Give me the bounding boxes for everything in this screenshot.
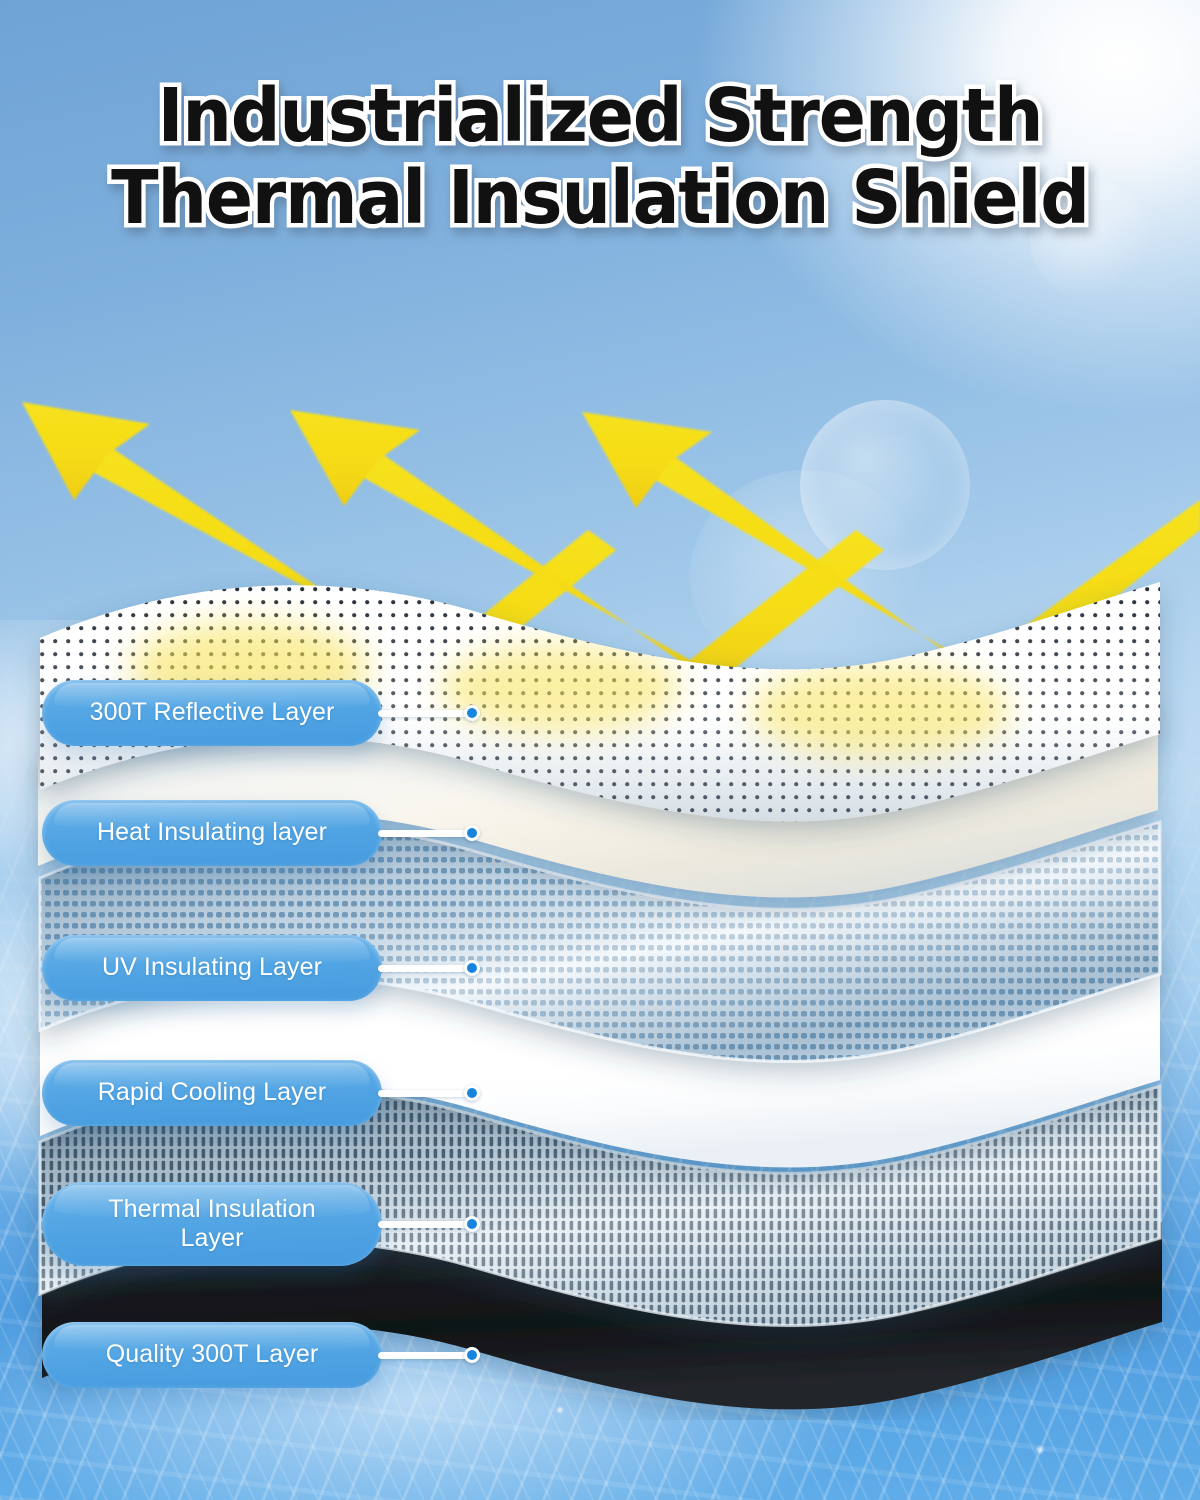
leader-dot-icon — [464, 1347, 480, 1363]
callout-label-line-1: Thermal Insulation — [108, 1195, 315, 1223]
leader-line — [378, 1352, 474, 1359]
callout-pill[interactable]: Rapid Cooling Layer — [42, 1060, 382, 1126]
leader-line — [378, 1090, 474, 1097]
callout-label: Rapid Cooling Layer — [98, 1078, 326, 1108]
leader-dot-icon — [464, 825, 480, 841]
leader-dot-icon — [464, 1085, 480, 1101]
callout-heat-insulating[interactable]: Heat Insulating layer — [42, 800, 474, 866]
callout-rapid-cooling[interactable]: Rapid Cooling Layer — [42, 1060, 474, 1126]
callout-label: Heat Insulating layer — [97, 818, 327, 848]
callout-pill[interactable]: UV Insulating Layer — [42, 935, 382, 1001]
leader-line — [378, 830, 474, 837]
leader-line — [378, 1221, 474, 1228]
callout-uv-insulating[interactable]: UV Insulating Layer — [42, 935, 474, 1001]
callout-thermal-insulation[interactable]: Thermal Insulation Layer — [42, 1182, 474, 1266]
leader-dot-icon — [464, 705, 480, 721]
leader-dot-icon — [464, 960, 480, 976]
callout-pill[interactable]: Heat Insulating layer — [42, 800, 382, 866]
callout-pill[interactable]: 300T Reflective Layer — [42, 680, 382, 746]
product-infographic: Industrialized Strength Thermal Insulati… — [0, 0, 1200, 1500]
title-line-1: Industrialized Strength — [36, 78, 1164, 154]
callout-pill[interactable]: Thermal Insulation Layer — [42, 1182, 382, 1266]
callout-quality-300t[interactable]: Quality 300T Layer — [42, 1322, 474, 1388]
callout-label: Thermal Insulation Layer — [108, 1195, 315, 1254]
leader-line — [378, 965, 474, 972]
leader-line — [378, 710, 474, 717]
callout-label: UV Insulating Layer — [102, 953, 322, 983]
callout-pill[interactable]: Quality 300T Layer — [42, 1322, 382, 1388]
leader-dot-icon — [464, 1216, 480, 1232]
callout-label: Quality 300T Layer — [106, 1340, 319, 1370]
callout-label: 300T Reflective Layer — [90, 698, 335, 728]
callout-label-line-2: Layer — [180, 1224, 243, 1252]
page-title: Industrialized Strength Thermal Insulati… — [0, 78, 1200, 236]
callout-300t-reflective[interactable]: 300T Reflective Layer — [42, 680, 474, 746]
title-line-2: Thermal Insulation Shield — [36, 160, 1164, 236]
